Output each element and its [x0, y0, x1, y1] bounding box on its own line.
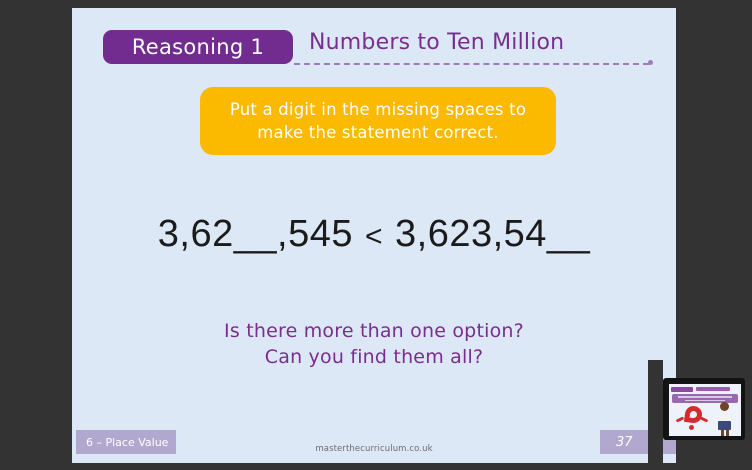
letterbox-left: [0, 0, 72, 470]
mini-slide-header: [671, 386, 739, 392]
reasoning-badge-label: Reasoning 1: [132, 35, 264, 59]
presentation-viewer: Reasoning 1 Numbers to Ten Million Put a…: [0, 0, 752, 470]
page-number-label: 37: [600, 435, 633, 450]
prompt-line-1: Is there more than one option?: [72, 318, 676, 344]
reasoning-badge: Reasoning 1: [103, 30, 293, 64]
presenter-video-thumbnail[interactable]: [663, 378, 745, 440]
slide-header: Reasoning 1 Numbers to Ten Million: [72, 8, 676, 74]
question-mark-character-icon: [681, 406, 707, 432]
instruction-box: Put a digit in the missing spaces to mak…: [200, 87, 556, 155]
statement-right-number: 3,623,54__: [395, 213, 590, 255]
instruction-line-2: make the statement correct.: [257, 121, 498, 144]
mini-slide-title: [696, 387, 730, 391]
student-figure-icon: [717, 402, 732, 436]
statement-left-number: 3,62__,545: [158, 213, 353, 255]
prompt-line-2: Can you find them all?: [72, 344, 676, 370]
mini-slide-preview: [669, 384, 741, 436]
prompt-question: Is there more than one option? Can you f…: [72, 318, 676, 370]
instruction-line-1: Put a digit in the missing spaces to: [230, 98, 526, 121]
website-label: masterthecurriculum.co.uk: [72, 444, 676, 454]
statement-operator: <: [365, 220, 383, 253]
mini-reasoning-badge: [671, 387, 693, 392]
header-divider-endpoint-icon: [648, 60, 653, 65]
slide-canvas: Reasoning 1 Numbers to Ten Million Put a…: [72, 8, 676, 463]
header-divider: [294, 63, 649, 65]
overlay-backdrop: [648, 360, 663, 470]
math-statement: 3,62__,545<3,623,54__: [72, 213, 676, 256]
slide-title: Numbers to Ten Million: [309, 30, 564, 55]
